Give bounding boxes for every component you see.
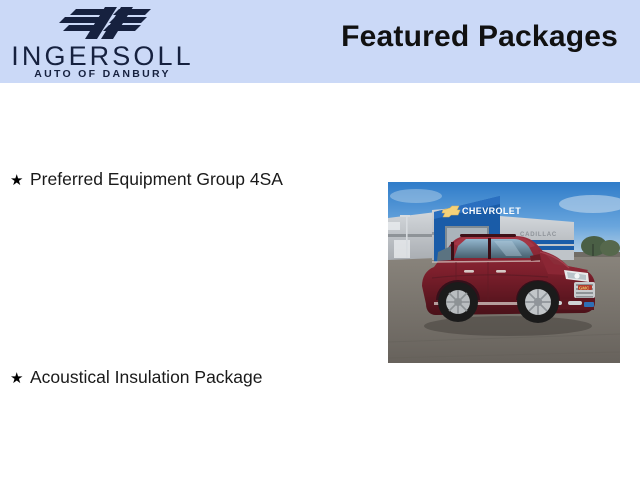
page-header: INGERSOLL AUTO OF DANBURY Featured Packa… xyxy=(0,0,640,83)
svg-text:CHEVROLET: CHEVROLET xyxy=(462,206,521,216)
star-bullet-icon: ★ xyxy=(10,369,30,389)
list-item-label: Acoustical Insulation Package xyxy=(30,367,263,387)
list-item-label: Preferred Equipment Group 4SA xyxy=(30,169,283,189)
dealer-logo: INGERSOLL AUTO OF DANBURY xyxy=(0,2,205,82)
list-item: ★ Acoustical Insulation Package xyxy=(10,367,263,389)
vehicle-photo: CHEVROLET CADILLAC xyxy=(388,182,620,363)
svg-text:CADILLAC: CADILLAC xyxy=(520,232,557,238)
dealer-name: INGERSOLL xyxy=(0,42,205,70)
dealer-tagline: AUTO OF DANBURY xyxy=(0,68,205,80)
ingersoll-wing-emblem-icon xyxy=(45,3,155,43)
list-item: ★ Preferred Equipment Group 4SA xyxy=(10,169,283,191)
page-title: Featured Packages xyxy=(341,20,618,54)
star-bullet-icon: ★ xyxy=(10,171,30,191)
svg-text:GMC: GMC xyxy=(579,285,590,290)
